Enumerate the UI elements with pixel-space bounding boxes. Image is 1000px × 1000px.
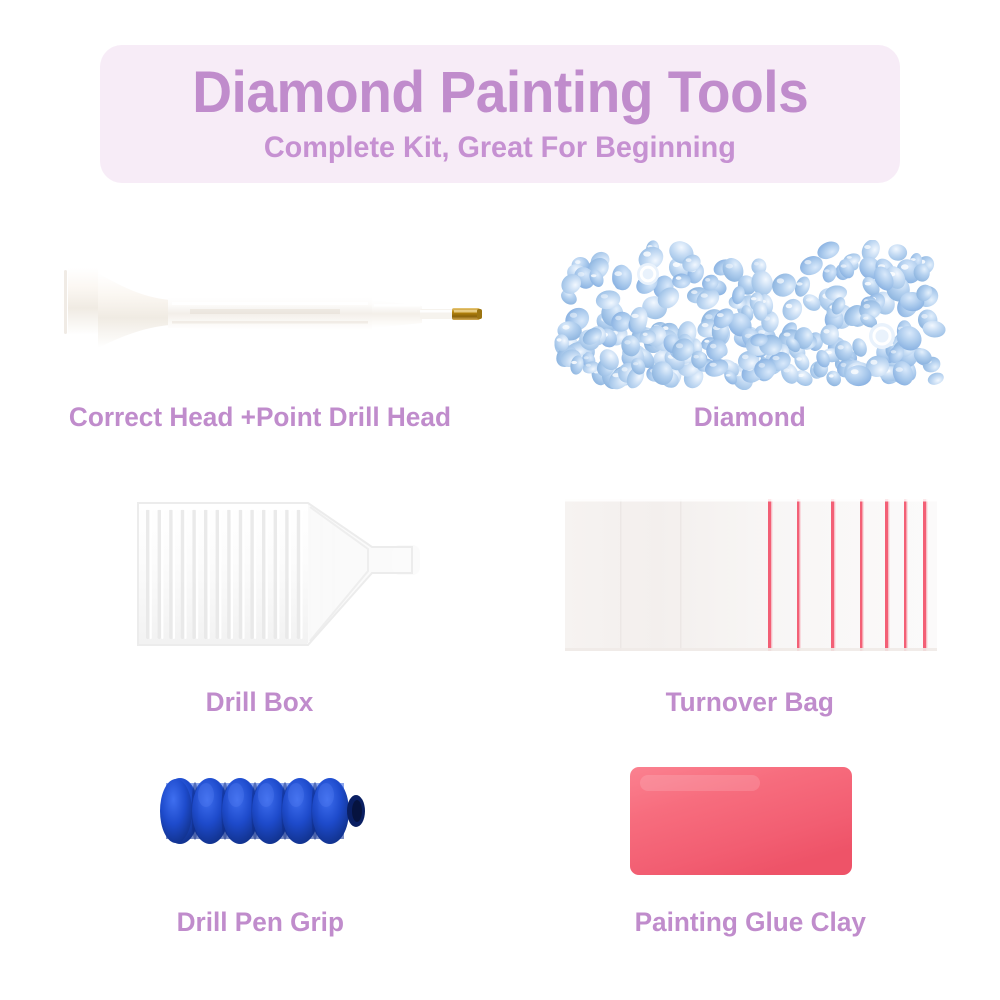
drill-pen-art [20, 240, 500, 390]
drill-pen-icon [20, 240, 500, 390]
page-subtitle: Complete Kit, Great For Beginning [264, 131, 736, 165]
drill-tray-art [20, 485, 500, 665]
pen-grip-icon [20, 755, 500, 885]
item-diamond: Diamond [520, 240, 980, 433]
diamond-drills-icon [520, 240, 980, 390]
item-label-bag: Turnover Bag [666, 687, 834, 718]
item-label-diamond: Diamond [694, 402, 806, 433]
item-label-grip: Drill Pen Grip [176, 907, 343, 938]
header-banner: Diamond Painting Tools Complete Kit, Gre… [100, 45, 900, 183]
item-label-pen: Correct Head +Point Drill Head [69, 402, 451, 433]
product-infographic: Diamond Painting Tools Complete Kit, Gre… [0, 0, 1000, 1000]
item-drill-box: Drill Box [20, 485, 500, 718]
glue-clay-art [520, 755, 980, 885]
item-label-box: Drill Box [206, 687, 314, 718]
page-title: Diamond Painting Tools [192, 63, 808, 124]
drill-tray-icon [20, 485, 500, 665]
item-correct-head-point-drill-head: Correct Head +Point Drill Head [20, 240, 500, 433]
glue-clay-icon [520, 755, 980, 885]
turnover-bag-art [520, 485, 980, 665]
item-drill-pen-grip: Drill Pen Grip [20, 755, 500, 938]
diamond-drills-art [520, 240, 980, 390]
turnover-bag-icon [520, 485, 980, 665]
item-turnover-bag: Turnover Bag [520, 485, 980, 718]
pen-grip-art [20, 755, 500, 885]
item-label-clay: Painting Glue Clay [634, 907, 865, 938]
item-painting-glue-clay: Painting Glue Clay [520, 755, 980, 938]
